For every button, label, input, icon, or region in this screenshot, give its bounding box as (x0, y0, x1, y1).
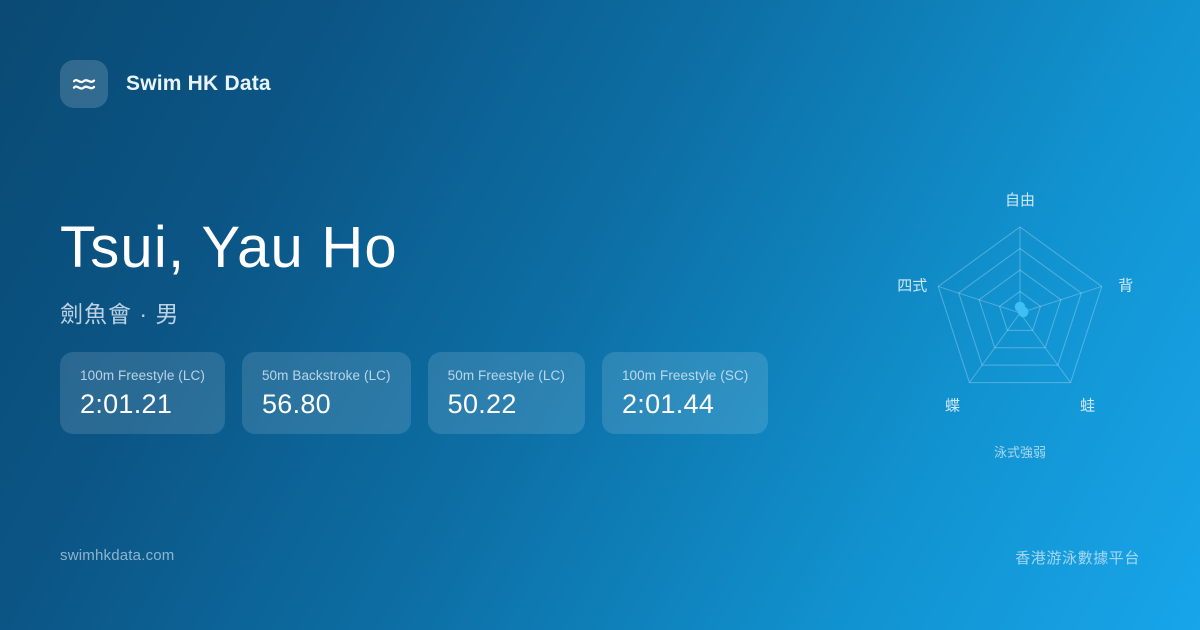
radar-caption: 泳式強弱 (860, 442, 1180, 461)
radar-spoke (938, 286, 1020, 313)
radar-axis-label: 蛙 (1080, 397, 1095, 415)
radar-series (1015, 302, 1029, 317)
athlete-meta: 劍魚會 · 男 (60, 295, 398, 329)
radar-point (1018, 307, 1028, 317)
best-times-list: 100m Freestyle (LC) 2:01.21 50m Backstro… (60, 352, 768, 434)
stat-value: 2:01.44 (622, 389, 748, 420)
stat-value: 56.80 (262, 389, 391, 420)
brand-header[interactable]: Swim HK Data (60, 60, 271, 108)
stat-value: 50.22 (448, 389, 565, 420)
stat-label: 100m Freestyle (LC) (80, 368, 205, 383)
stat-card[interactable]: 50m Freestyle (LC) 50.22 (428, 352, 585, 434)
radar-axis-label: 四式 (897, 276, 927, 294)
radar-axis-label: 自由 (1005, 191, 1035, 209)
radar-axis-labels: 自由背蛙蝶四式 (897, 191, 1133, 415)
radar-chart: 自由背蛙蝶四式 泳式強弱 (860, 160, 1180, 480)
footer-tagline: 香港游泳數據平台 (1015, 547, 1140, 568)
footer-site-url[interactable]: swimhkdata.com (60, 547, 175, 564)
stat-value: 2:01.21 (80, 389, 205, 420)
radar-axis-label: 背 (1118, 276, 1133, 294)
stat-card[interactable]: 50m Backstroke (LC) 56.80 (242, 352, 411, 434)
brand-name: Swim HK Data (126, 72, 271, 96)
stat-card[interactable]: 100m Freestyle (SC) 2:01.44 (602, 352, 768, 434)
radar-spoke (1020, 286, 1102, 313)
wave-approx-icon (60, 60, 108, 108)
page-title: Tsui, Yau Ho (60, 218, 398, 279)
stat-label: 50m Freestyle (LC) (448, 368, 565, 383)
hero-block: Tsui, Yau Ho 劍魚會 · 男 (60, 218, 398, 329)
radar-axis-label: 蝶 (945, 397, 960, 415)
share-card: Swim HK Data Tsui, Yau Ho 劍魚會 · 男 100m F… (0, 0, 1200, 630)
stat-label: 100m Freestyle (SC) (622, 368, 748, 383)
stat-card[interactable]: 100m Freestyle (LC) 2:01.21 (60, 352, 225, 434)
stat-label: 50m Backstroke (LC) (262, 368, 391, 383)
